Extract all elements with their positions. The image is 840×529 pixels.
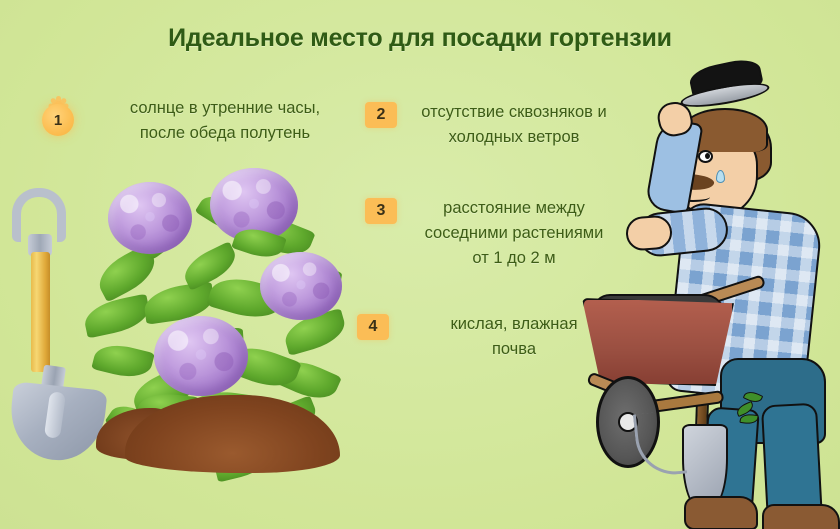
hydrangea-bloom (260, 252, 342, 320)
item-1-line-1: солнце в утренние часы, (100, 96, 350, 121)
item-2-line-1: отсутствие сквозняков и (400, 100, 628, 125)
list-item-2: 2 отсутствие сквозняков и холодных ветро… (400, 100, 628, 150)
item-1-line-2: после обеда полутень (100, 121, 350, 146)
boot-right (762, 504, 840, 529)
sun-number-badge: 1 (42, 104, 74, 136)
badge-3: 3 (365, 198, 397, 224)
page-title: Идеальное место для посадки гортензии (0, 24, 840, 53)
infographic-canvas: Идеальное место для посадки гортензии 1 … (0, 0, 840, 529)
sun-icon: 1 (16, 78, 100, 162)
grass-sprout-icon (736, 390, 766, 424)
spade-shaft (31, 252, 50, 372)
item-3-line-3: от 1 до 2 м (400, 246, 628, 271)
hydrangea-bloom (154, 316, 248, 396)
badge-4: 4 (357, 314, 389, 340)
hydrangea-bloom (108, 182, 192, 254)
item-3-line-1: расстояние между (400, 196, 628, 221)
item-3-line-2: соседними растениями (400, 221, 628, 246)
list-item-1: солнце в утренние часы, после обеда полу… (100, 96, 350, 146)
sweat-drop-icon (716, 170, 725, 183)
wheelbarrow-tray (582, 298, 734, 386)
wheelbarrow-illustration (578, 286, 778, 486)
item-2-line-2: холодных ветров (400, 125, 628, 150)
wheelbarrow-strut (633, 410, 687, 479)
list-item-3: 3 расстояние между соседними растениями … (400, 196, 628, 271)
badge-2: 2 (365, 102, 397, 128)
pupil-right (705, 153, 710, 159)
boot-left (684, 496, 758, 529)
